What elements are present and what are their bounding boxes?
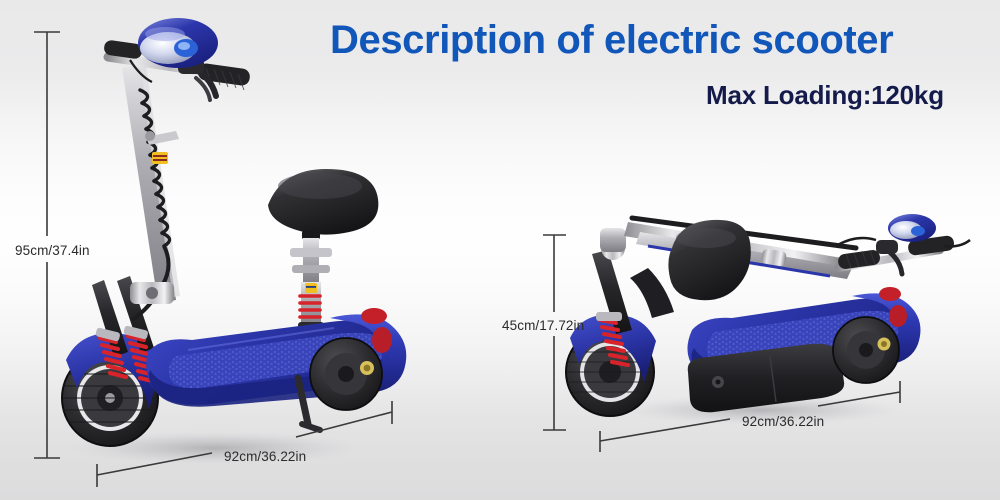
max-loading-label: Max Loading:120kg — [706, 80, 944, 111]
scooter-folded-graphic — [566, 214, 970, 425]
dimension-label-right-height: 45cm/17.72in — [502, 318, 584, 333]
rear-wheel-right — [833, 317, 899, 383]
scooter-illustration — [0, 0, 1000, 500]
rear-wheel-left — [310, 338, 382, 410]
product-infographic: Description of electric scooter Max Load… — [0, 0, 1000, 500]
dimension-label-right-width: 92cm/36.22in — [742, 414, 824, 429]
tail-light-left — [361, 308, 387, 324]
seat-left — [268, 169, 378, 240]
scooter-unfolded-graphic — [62, 18, 406, 465]
seat-post-left — [290, 238, 332, 334]
tail-light-right — [879, 287, 901, 301]
page-title: Description of electric scooter — [330, 18, 893, 63]
dimension-label-left-height: 95cm/37.4in — [15, 243, 90, 258]
handlebar-right — [836, 214, 970, 274]
dimension-label-left-width: 92cm/36.22in — [224, 449, 306, 464]
